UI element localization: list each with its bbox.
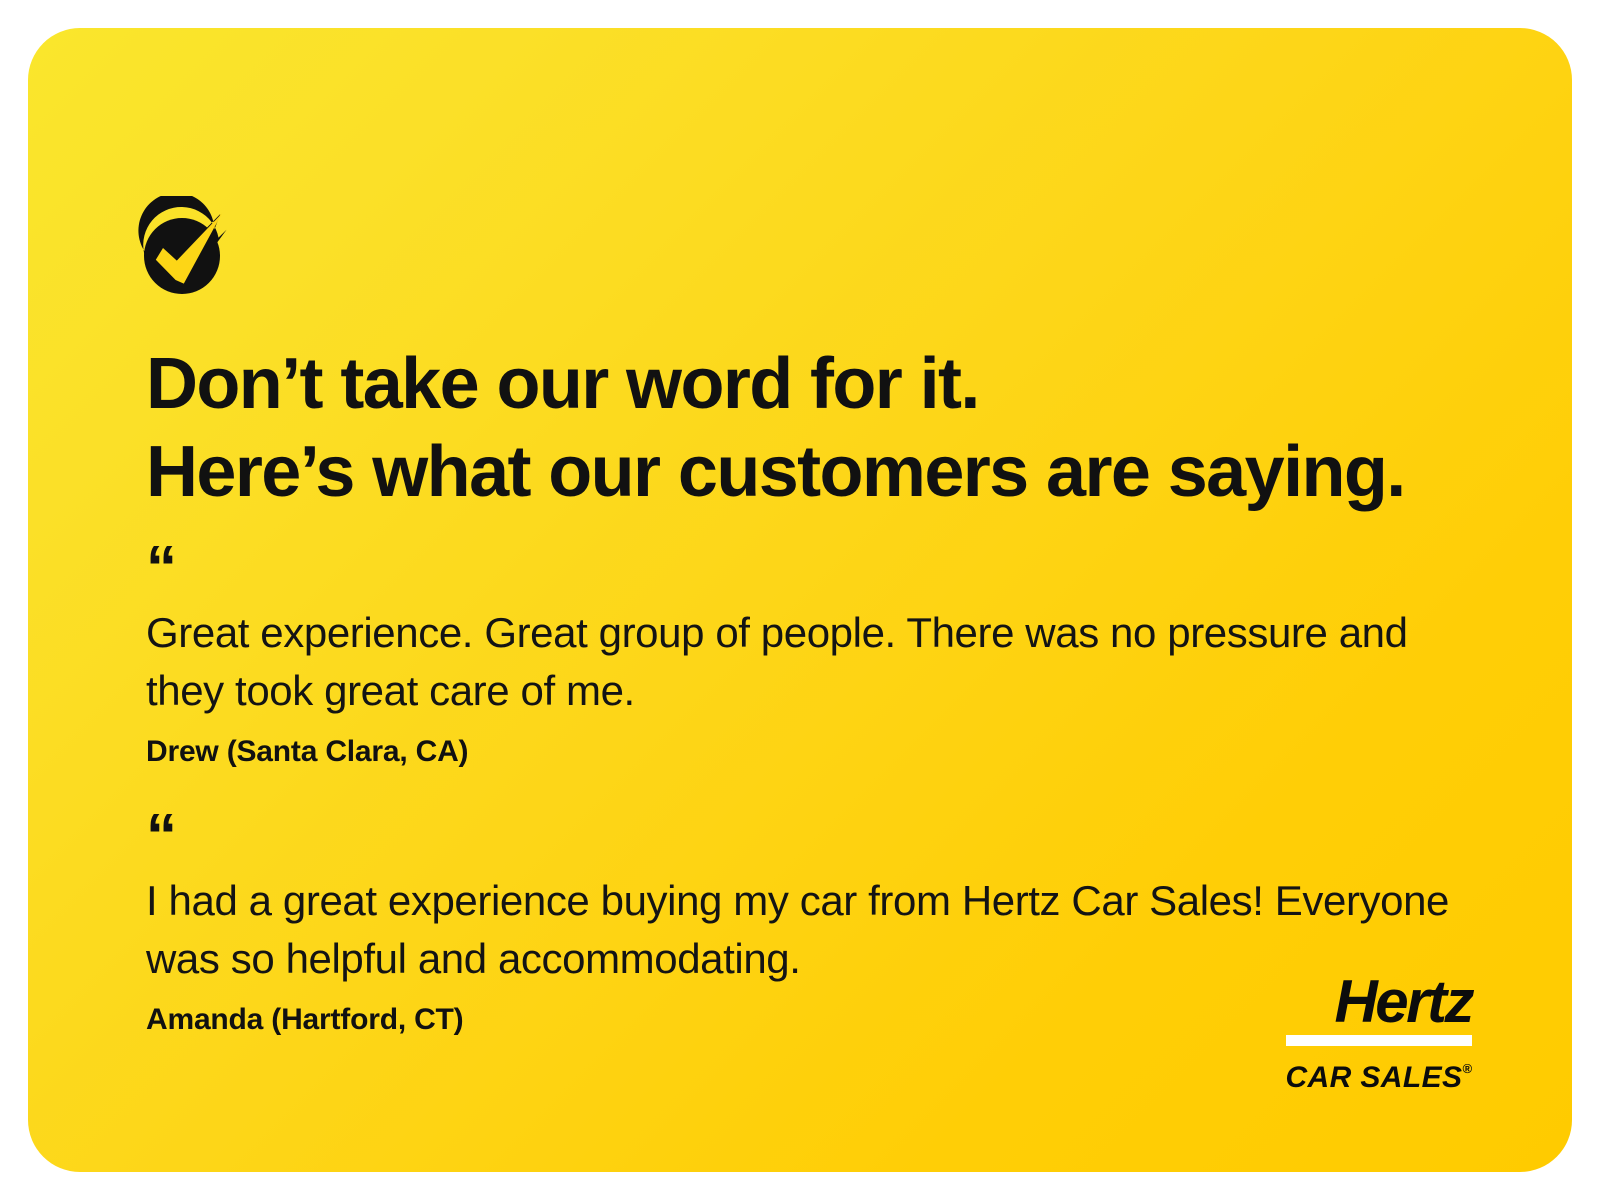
page-title: Don’t take our word for it. Here’s what … bbox=[146, 340, 1486, 516]
testimonial-card: Don’t take our word for it. Here’s what … bbox=[28, 28, 1572, 1172]
quote-open-icon: “ bbox=[146, 552, 1506, 586]
hertz-wordmark: Hertz bbox=[1272, 971, 1472, 1033]
logo-underline-rule bbox=[1286, 1035, 1472, 1046]
check-circle-icon bbox=[122, 196, 242, 316]
testimonial-list: “ Great experience. Great group of peopl… bbox=[146, 552, 1506, 1040]
hertz-car-sales-logo: Hertz CAR SALES® bbox=[1272, 971, 1472, 1094]
testimonial-quote: Great experience. Great group of people.… bbox=[146, 604, 1476, 720]
quote-open-icon: “ bbox=[146, 820, 1506, 854]
poster-canvas: Don’t take our word for it. Here’s what … bbox=[0, 0, 1600, 1200]
headline-line-2: Here’s what our customers are saying. bbox=[146, 428, 1486, 516]
logo-subtitle: CAR SALES® bbox=[1272, 1053, 1472, 1094]
logo-subtitle-text: CAR SALES bbox=[1285, 1061, 1462, 1094]
testimonial-item: “ Great experience. Great group of peopl… bbox=[146, 552, 1506, 772]
registered-mark-icon: ® bbox=[1462, 1061, 1472, 1076]
headline-line-1: Don’t take our word for it. bbox=[146, 340, 1486, 428]
testimonial-author: Drew (Santa Clara, CA) bbox=[146, 732, 1506, 772]
